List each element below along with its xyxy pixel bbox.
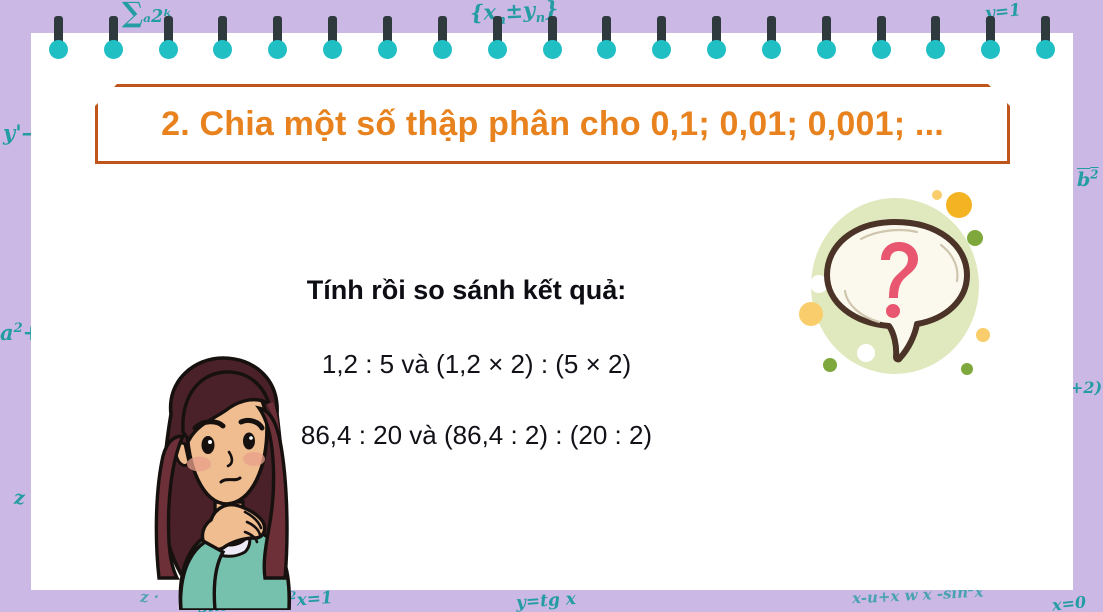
- doodle-plus-two: +2): [1070, 378, 1102, 397]
- section-title-inner: 2. Chia một số thập phân cho 0,1; 0,01; …: [95, 84, 1010, 164]
- thinking-girl-illustration: [123, 352, 323, 610]
- equation-2-text: 86,4 : 20 và (86,4 : 2) : (20 : 2): [301, 420, 652, 451]
- equation-1-text: 1,2 : 5 và (1,2 × 2) : (5 × 2): [322, 349, 631, 380]
- doodle-sigma: ∑ₐ2ᵏ: [122, 0, 172, 29]
- doodle-y-prime: y'–: [3, 120, 32, 145]
- question-thought-bubble: [789, 183, 994, 388]
- doodle-x-equals-zero: x=0: [1051, 592, 1087, 612]
- doodle-sequence: {xn±yn}: [469, 0, 559, 29]
- lesson-slide: ∑ₐ2ᵏ {xn±yn} y=1 y'– b2 a2+ +2) z sin2x+…: [0, 0, 1103, 612]
- doodle-y-equals-one: y=1: [984, 0, 1022, 24]
- doodle-z: z: [14, 487, 25, 509]
- question-mark-icon: [789, 183, 994, 388]
- doodle-b-squared: b2: [1077, 168, 1098, 191]
- page-title: 2. Chia một số thập phân cho 0,1; 0,01; …: [161, 105, 944, 144]
- doodle-tangent: y=tg x: [515, 589, 576, 612]
- girl-icon: [123, 352, 323, 610]
- exercise-prompt-text: Tính rồi so sánh kết quả:: [307, 275, 627, 305]
